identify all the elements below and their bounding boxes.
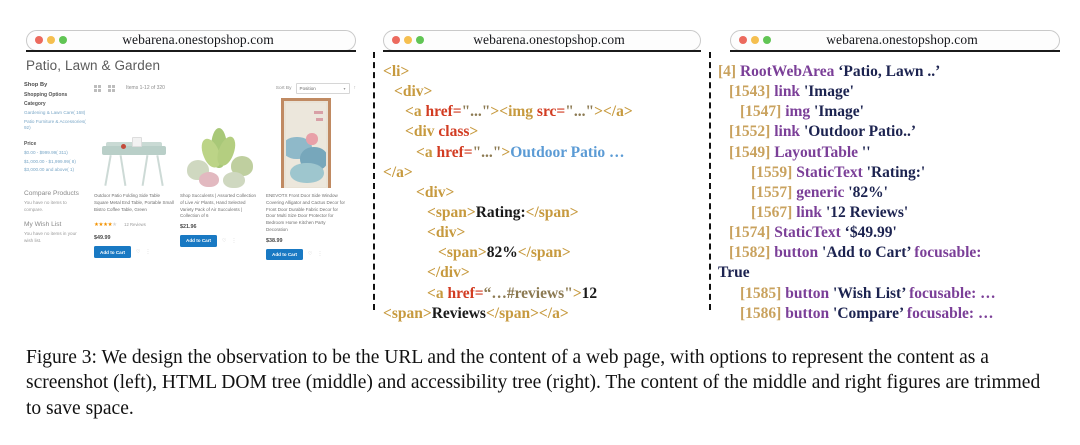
chrome-underline-right bbox=[730, 50, 1060, 52]
dom-token: ></a> bbox=[594, 103, 633, 120]
shop-by-heading: Shop By bbox=[24, 82, 87, 88]
add-to-cart-button[interactable]: Add to Cart bbox=[180, 235, 217, 247]
a11y-node-role: StaticText bbox=[796, 164, 866, 181]
product-card[interactable]: Shop Succulents | Assorted Collection of… bbox=[180, 98, 260, 260]
star-rating-icon: ★★★★★ bbox=[94, 222, 117, 228]
add-to-cart-button[interactable]: Add to Cart bbox=[266, 249, 303, 261]
browser-bar-middle: webarena.onestopshop.com bbox=[383, 28, 701, 52]
close-dot-icon[interactable] bbox=[35, 36, 43, 44]
dom-token: "..." bbox=[565, 103, 594, 120]
dom-token: <div bbox=[405, 123, 438, 140]
door-covering-illustration bbox=[281, 98, 331, 188]
a11y-node-role: link bbox=[796, 204, 826, 221]
a11y-node-id: [1549] bbox=[729, 144, 774, 161]
a11y-node-role: link bbox=[774, 123, 804, 140]
dom-token: </span> bbox=[518, 244, 571, 261]
sort-select[interactable]: Position ▾ bbox=[296, 83, 350, 94]
listing-toolbar: Items 1-12 of 320 Sort By Position ▾ ↑ bbox=[94, 82, 356, 94]
dom-token: <div> bbox=[394, 83, 432, 100]
a11y-node-value: 'Add to Cart’ bbox=[822, 244, 910, 261]
browser-chrome-middle: webarena.onestopshop.com bbox=[383, 30, 701, 51]
product-title[interactable]: Outdoor Patio Folding Side Table Square … bbox=[94, 193, 174, 213]
screenshot-panel: Patio, Lawn & Garden Shop By Shopping Op… bbox=[24, 58, 356, 308]
dom-token: <a bbox=[405, 103, 425, 120]
a11y-node-value: True bbox=[718, 264, 750, 281]
a11y-node-id: [1586] bbox=[740, 305, 785, 322]
maximize-dot-icon[interactable] bbox=[59, 36, 67, 44]
a11y-node-role: RootWebArea bbox=[740, 63, 838, 80]
a11y-node-property: focusable: … bbox=[903, 305, 993, 322]
dom-token: href= bbox=[436, 144, 472, 161]
a11y-tree-line: [1549] LayoutTable '' bbox=[718, 143, 1070, 163]
a11y-node-value: 'Image' bbox=[814, 103, 864, 120]
add-to-cart-button[interactable]: Add to Cart bbox=[94, 246, 131, 258]
dom-token: "..." bbox=[473, 144, 502, 161]
maximize-dot-icon[interactable] bbox=[416, 36, 424, 44]
dom-token: Reviews bbox=[432, 305, 486, 322]
sidebar: Shop By Shopping Options Category Garden… bbox=[24, 82, 87, 260]
a11y-node-role: generic bbox=[796, 184, 848, 201]
a11y-node-role: LayoutTable bbox=[774, 144, 862, 161]
browser-bar-right: webarena.onestopshop.com bbox=[730, 28, 1060, 52]
dom-token: "..." bbox=[462, 103, 491, 120]
price-filter-heading: Price bbox=[24, 141, 87, 147]
compare-products-heading: Compare Products bbox=[24, 190, 87, 197]
wish-list-icon[interactable]: ♡ bbox=[308, 251, 312, 257]
window-controls-right[interactable] bbox=[731, 36, 771, 44]
list-view-icon[interactable] bbox=[108, 85, 115, 92]
chrome-underline-left bbox=[26, 50, 356, 52]
panel-divider-left bbox=[373, 52, 375, 310]
minimize-dot-icon[interactable] bbox=[404, 36, 412, 44]
accessibility-tree-panel: [4] RootWebArea ‘Patio, Lawn ..’[1543] l… bbox=[718, 62, 1070, 324]
reviews-count[interactable]: 12 Reviews bbox=[124, 222, 146, 227]
chevron-down-icon: ▾ bbox=[343, 86, 345, 91]
a11y-node-value: '82%' bbox=[848, 184, 888, 201]
a11y-node-value: 'Rating:' bbox=[867, 164, 926, 181]
sort-by-label: Sort By bbox=[276, 86, 292, 91]
a11y-tree-line: [1547] img 'Image' bbox=[718, 102, 1070, 122]
dom-token: class bbox=[438, 123, 469, 140]
a11y-node-property: focusable: bbox=[910, 244, 981, 261]
dom-token: <a bbox=[427, 285, 447, 302]
a11y-tree-line: [1574] StaticText ‘$49.99' bbox=[718, 223, 1070, 243]
a11y-node-property: focusable: … bbox=[905, 285, 995, 302]
dom-tree-line: <a href="...">Outdoor Patio … bbox=[383, 143, 701, 163]
a11y-node-id: [1543] bbox=[729, 83, 774, 100]
a11y-node-role: button bbox=[785, 285, 833, 302]
succulents-illustration bbox=[183, 126, 257, 188]
url-text-left[interactable]: webarena.onestopshop.com bbox=[67, 32, 355, 48]
product-listing: Items 1-12 of 320 Sort By Position ▾ ↑ bbox=[87, 82, 356, 260]
dom-token: <span> bbox=[383, 305, 432, 322]
dom-tree-line: <div> bbox=[383, 82, 701, 102]
category-filter-heading: Category bbox=[24, 101, 87, 107]
wish-list-heading: My Wish List bbox=[24, 221, 87, 228]
product-title[interactable]: ENEVOTX Front Door Side Window Covering … bbox=[266, 193, 346, 234]
a11y-node-role: button bbox=[785, 305, 833, 322]
items-count: Items 1-12 of 320 bbox=[126, 85, 165, 91]
wish-list-note: You have no items in your wish list. bbox=[24, 231, 87, 245]
dom-tree-line: <li> bbox=[383, 62, 701, 82]
figure-caption: Figure 3: We design the observation to b… bbox=[26, 345, 1058, 421]
price-filter-option[interactable]: $1,000.00 - $1,999.99( 8) bbox=[24, 159, 87, 166]
a11y-tree-line: [1543] link 'Image' bbox=[718, 82, 1070, 102]
a11y-tree-line: [1585] button 'Wish List’ focusable: … bbox=[718, 284, 1070, 304]
dom-token: <span> bbox=[427, 204, 476, 221]
dom-tree-panel: <li><div><a href="..."><img src="..."></… bbox=[383, 62, 701, 324]
product-card[interactable]: Outdoor Patio Folding Side Table Square … bbox=[94, 98, 174, 260]
a11y-node-id: [1574] bbox=[729, 224, 774, 241]
a11y-node-id: [1547] bbox=[740, 103, 785, 120]
a11y-node-id: [1585] bbox=[740, 285, 785, 302]
dom-token: “…#reviews" bbox=[484, 285, 573, 302]
minimize-dot-icon[interactable] bbox=[47, 36, 55, 44]
dom-token: 12 bbox=[582, 285, 598, 302]
sort-control[interactable]: Sort By Position ▾ ↑ bbox=[276, 83, 356, 94]
product-rating: ★★★★★ 12 Reviews bbox=[94, 213, 174, 231]
a11y-node-value: '12 Reviews' bbox=[826, 204, 908, 221]
chrome-underline-middle bbox=[383, 50, 701, 52]
product-price: $21.96 bbox=[180, 224, 260, 230]
a11y-tree-line: True bbox=[718, 263, 1070, 283]
product-price: $49.99 bbox=[94, 235, 174, 241]
close-dot-icon[interactable] bbox=[392, 36, 400, 44]
window-controls-middle[interactable] bbox=[384, 36, 424, 44]
browser-chrome-left: webarena.onestopshop.com bbox=[26, 30, 356, 51]
a11y-node-id: [1557] bbox=[751, 184, 796, 201]
dom-token: href= bbox=[447, 285, 483, 302]
a11y-tree-line: [1582] button 'Add to Cart’ focusable: bbox=[718, 243, 1070, 263]
dom-tree-line: <div class> bbox=[383, 122, 701, 142]
a11y-node-value: '' bbox=[862, 144, 871, 161]
product-image[interactable] bbox=[94, 98, 174, 188]
a11y-node-id: [1567] bbox=[751, 204, 796, 221]
a11y-tree-line: [1586] button 'Compare’ focusable: … bbox=[718, 304, 1070, 324]
compare-icon[interactable]: ⋮ bbox=[318, 251, 323, 257]
dom-token: 82% bbox=[487, 244, 518, 261]
product-price: $38.99 bbox=[266, 238, 346, 244]
dom-tree-line: </div> bbox=[383, 263, 701, 283]
a11y-node-role: link bbox=[774, 83, 804, 100]
a11y-node-id: [1559] bbox=[751, 164, 796, 181]
dom-token: </span> bbox=[526, 204, 579, 221]
sort-direction-icon[interactable]: ↑ bbox=[354, 85, 357, 91]
dom-token: </div> bbox=[427, 264, 470, 281]
dom-tree-line: </a> bbox=[383, 163, 701, 183]
product-image[interactable] bbox=[266, 98, 346, 188]
a11y-node-id: [4] bbox=[718, 63, 740, 80]
maximize-dot-icon[interactable] bbox=[763, 36, 771, 44]
a11y-node-value: 'Outdoor Patio..’ bbox=[804, 123, 916, 140]
caption-text: We design the observation to be the URL … bbox=[26, 347, 1040, 419]
a11y-tree-line: [1552] link 'Outdoor Patio..’ bbox=[718, 122, 1070, 142]
a11y-node-value: 'Wish List’ bbox=[833, 285, 905, 302]
price-filter-option[interactable]: $0.00 - $999.99( 311) bbox=[24, 150, 87, 157]
dom-token: > bbox=[469, 123, 478, 140]
dom-token: <li> bbox=[383, 63, 409, 80]
minimize-dot-icon[interactable] bbox=[751, 36, 759, 44]
category-filter-option[interactable]: Patio Furniture & Accessories( 92) bbox=[24, 119, 87, 132]
a11y-node-value: 'Compare’ bbox=[833, 305, 903, 322]
product-title[interactable]: Shop Succulents | Assorted Collection of… bbox=[180, 193, 260, 220]
dom-token: </span></a> bbox=[486, 305, 569, 322]
a11y-tree-line: [1567] link '12 Reviews' bbox=[718, 203, 1070, 223]
product-card[interactable]: ENEVOTX Front Door Side Window Covering … bbox=[266, 98, 346, 260]
compare-icon[interactable]: ⋮ bbox=[146, 249, 151, 255]
close-dot-icon[interactable] bbox=[739, 36, 747, 44]
dom-tree-line: <div> bbox=[383, 223, 701, 243]
product-image[interactable] bbox=[180, 98, 260, 188]
a11y-node-role: StaticText bbox=[774, 224, 844, 241]
sort-select-value: Position bbox=[300, 86, 316, 91]
a11y-node-role: img bbox=[785, 103, 814, 120]
dom-token: src= bbox=[537, 103, 565, 120]
dom-tree-line: <a href=“…#reviews">12 bbox=[383, 284, 701, 304]
figure-panels: webarena.onestopshop.com webarena.onesto… bbox=[0, 0, 1080, 330]
page-title: Patio, Lawn & Garden bbox=[26, 58, 356, 73]
grid-view-icon[interactable] bbox=[94, 85, 101, 92]
dom-token: </a> bbox=[383, 164, 413, 181]
price-filter-option[interactable]: $3,000.00 and above( 1) bbox=[24, 167, 87, 174]
caption-label: Figure 3: bbox=[26, 347, 97, 368]
dom-token: ><img bbox=[490, 103, 537, 120]
browser-chrome-right: webarena.onestopshop.com bbox=[730, 30, 1060, 51]
dom-token: Rating: bbox=[476, 204, 526, 221]
a11y-tree-line: [1559] StaticText 'Rating:' bbox=[718, 163, 1070, 183]
dom-token: <a bbox=[416, 144, 436, 161]
dom-tree-line: <span>Rating:</span> bbox=[383, 203, 701, 223]
dom-token: > bbox=[501, 144, 510, 161]
dom-token: href= bbox=[425, 103, 461, 120]
a11y-tree-line: [4] RootWebArea ‘Patio, Lawn ..’ bbox=[718, 62, 1070, 82]
a11y-node-value: ‘Patio, Lawn ..’ bbox=[838, 63, 940, 80]
dom-tree-line: <span>Reviews</span></a> bbox=[383, 304, 701, 324]
a11y-node-id: [1552] bbox=[729, 123, 774, 140]
product-grid: Outdoor Patio Folding Side Table Square … bbox=[94, 98, 356, 260]
dom-token: <div> bbox=[416, 184, 454, 201]
folding-table-illustration bbox=[102, 136, 166, 188]
wish-list-icon[interactable]: ♡ bbox=[222, 238, 226, 244]
dom-token: <div> bbox=[427, 224, 465, 241]
shopping-options-heading: Shopping Options bbox=[24, 92, 87, 98]
a11y-node-id: [1582] bbox=[729, 244, 774, 261]
dom-tree-line: <div> bbox=[383, 183, 701, 203]
dom-token: > bbox=[573, 285, 582, 302]
panel-divider-right bbox=[709, 52, 711, 310]
browser-bar-left: webarena.onestopshop.com bbox=[26, 28, 356, 52]
dom-token: <span> bbox=[438, 244, 487, 261]
a11y-node-value: 'Image' bbox=[804, 83, 854, 100]
category-filter-option[interactable]: Gardening & Lawn Care( 168) bbox=[24, 110, 87, 117]
a11y-tree-line: [1557] generic '82%' bbox=[718, 183, 1070, 203]
a11y-node-role: button bbox=[774, 244, 822, 261]
url-text-right[interactable]: webarena.onestopshop.com bbox=[771, 32, 1059, 48]
a11y-node-value: ‘$49.99' bbox=[845, 224, 897, 241]
url-text-middle[interactable]: webarena.onestopshop.com bbox=[424, 32, 700, 48]
compare-icon[interactable]: ⋮ bbox=[232, 238, 237, 244]
dom-token: Outdoor Patio … bbox=[510, 144, 624, 161]
dom-tree-line: <a href="..."><img src="..."></a> bbox=[383, 102, 701, 122]
wish-list-icon[interactable]: ♡ bbox=[136, 249, 140, 255]
compare-products-note: You have no items to compare. bbox=[24, 200, 87, 214]
dom-tree-line: <span>82%</span> bbox=[383, 243, 701, 263]
window-controls-left[interactable] bbox=[27, 36, 67, 44]
